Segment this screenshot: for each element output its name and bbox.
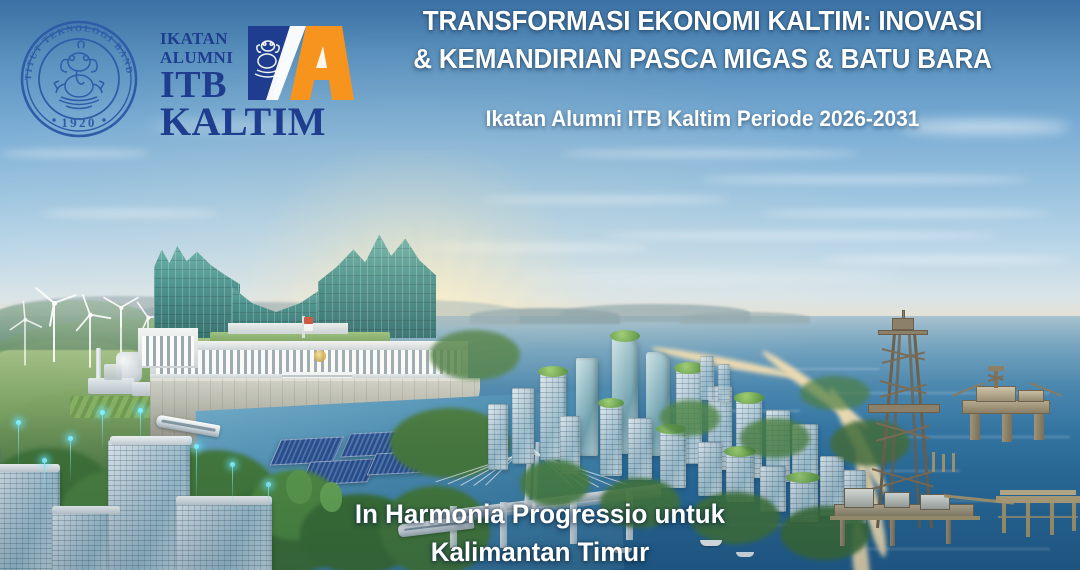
tagline-line-2: Kalimantan Timur — [252, 533, 828, 570]
itb-institute-seal: INSTITUT TEKNOLOGI BANDUNG 1920 — [14, 14, 144, 144]
garuda-palace — [150, 206, 480, 396]
offshore-oil-platform — [952, 366, 1062, 456]
subtitle: Ikatan Alumni ITB Kaltim Periode 2026-20… — [349, 104, 1057, 134]
ganesha-emblem — [54, 41, 104, 109]
ikatan-alumni-itb-kaltim-logo: IKATAN ALUMNI ITB KALTIM — [160, 24, 355, 142]
oil-derrick-tower — [860, 318, 950, 528]
tagline-line-1: In Harmonia Progressio untuk — [252, 495, 828, 533]
headline-block: TRANSFORMASI EKONOMI KALTIM: INOVASI & K… — [330, 2, 1075, 78]
ia-logo-line-kaltim: KALTIM — [160, 102, 326, 142]
title-line-1: TRANSFORMASI EKONOMI KALTIM: INOVASI — [356, 2, 1049, 40]
title-line-2: & KEMANDIRIAN PASCA MIGAS & BATU BARA — [356, 40, 1049, 78]
seal-year: 1920 — [61, 115, 97, 130]
ia-logo-line-ikatan: IKATAN — [160, 30, 228, 47]
wooden-jetty — [996, 486, 1080, 552]
mooring-piles — [930, 452, 960, 474]
banner-root: INSTITUT TEKNOLOGI BANDUNG 1920 — [0, 0, 1080, 570]
tagline-block: In Harmonia Progressio untuk Kalimantan … — [252, 495, 828, 570]
